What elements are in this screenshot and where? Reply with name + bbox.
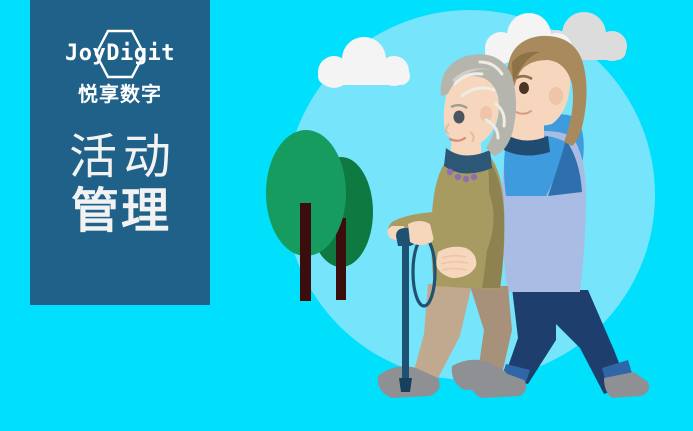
logo-lockup: JoyDigit <box>45 30 195 78</box>
woman-eye <box>454 111 465 124</box>
title-line-2: 管理 <box>69 185 171 239</box>
company-name-cn: 悦享数字 <box>78 85 162 105</box>
man-ear <box>549 87 563 105</box>
poster-canvas: JoyDigit 悦享数字 活动 管理 <box>0 0 693 431</box>
page-title: 活动 管理 <box>30 131 210 239</box>
title-line-1: 活动 <box>63 131 177 185</box>
cane-shaft <box>402 244 409 386</box>
man-eye <box>519 82 529 94</box>
brand-panel: JoyDigit 悦享数字 活动 管理 <box>30 0 210 305</box>
cane-ferrule <box>399 378 412 392</box>
logo-wordmark: JoyDigit <box>65 43 175 65</box>
